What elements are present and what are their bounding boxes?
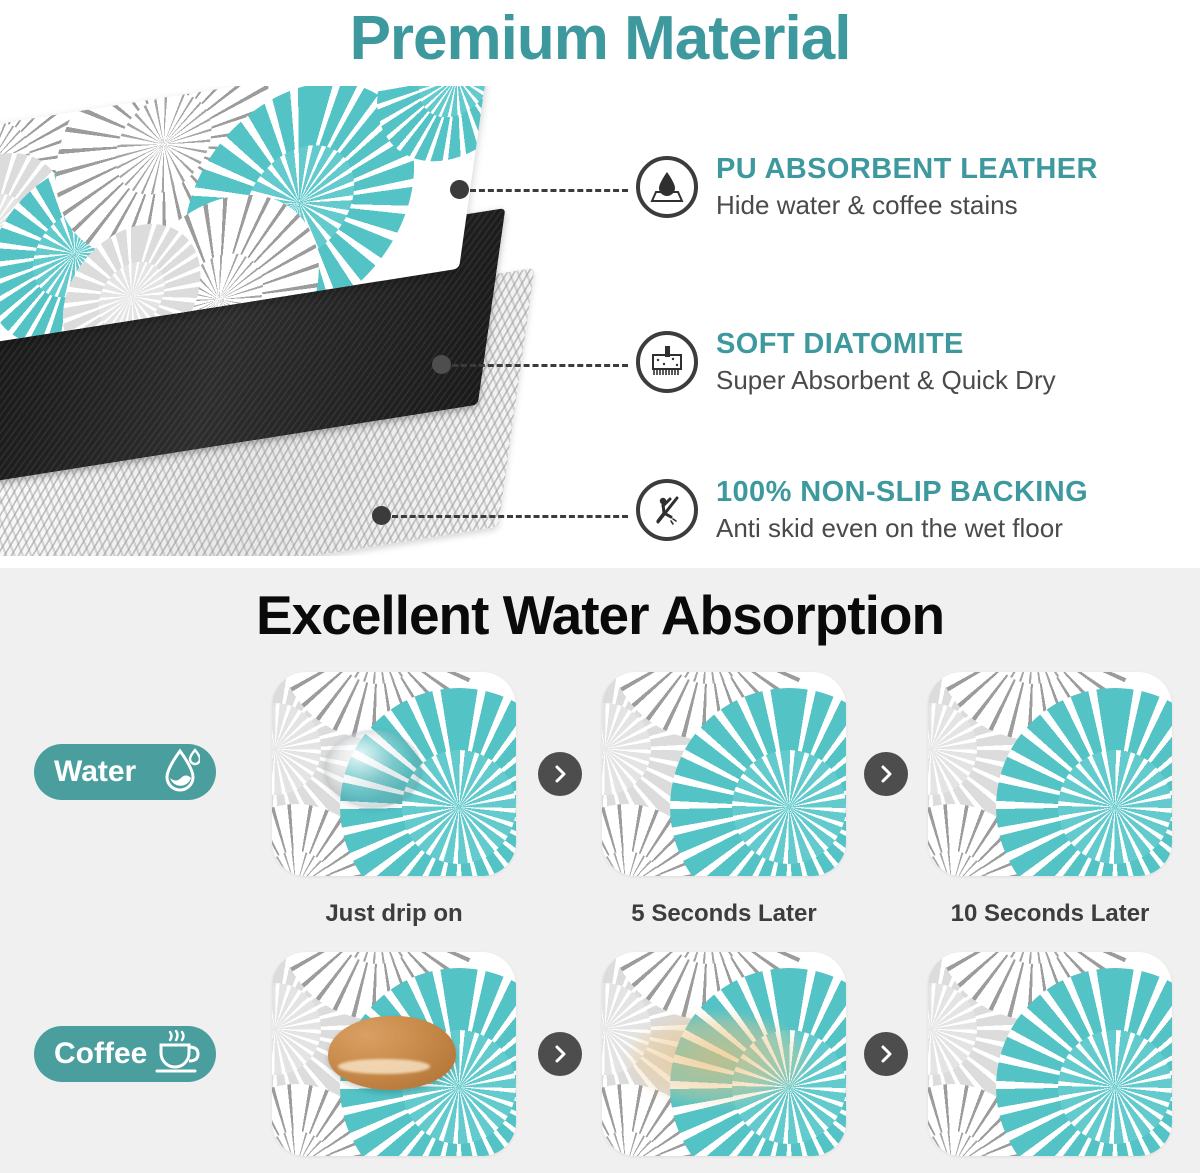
feature-title: PU ABSORBENT LEATHER [716,152,1098,186]
tile-water-step-1 [272,672,516,876]
water-absorption-heading: Excellent Water Absorption [0,584,1200,646]
no-slip-person-icon [636,479,698,541]
badge-coffee: Coffee [34,1026,216,1082]
leader-dot-non-slip [372,506,391,525]
feature-subtitle: Anti skid even on the wet floor [716,511,1088,545]
feature-subtitle: Hide water & coffee stains [716,188,1098,222]
chevron-right-icon [538,1032,582,1076]
floral-pattern [602,672,846,876]
feature-soft-diatomite: SOFT DIATOMITE Super Absorbent & Quick D… [636,327,1056,397]
water-drop-on-mat-icon [636,156,698,218]
feature-title: SOFT DIATOMITE [716,327,1056,361]
water-droplet-blob [324,730,422,808]
chevron-right-icon [864,1032,908,1076]
tile-water-step-3 [928,672,1172,876]
caption-step-1: Just drip on [272,899,516,929]
tile-coffee-step-3 [928,952,1172,1156]
tile-coffee-step-2 [602,952,846,1156]
tile-coffee-step-1 [272,952,516,1156]
caption-step-2: 5 Seconds Later [602,899,846,929]
coffee-stain-faded [628,1014,808,1106]
badge-water: Water [34,744,216,800]
floral-pattern [928,672,1172,876]
leader-line-diatomite [452,364,628,367]
chevron-right-icon [864,752,908,796]
caption-step-3: 10 Seconds Later [928,899,1172,929]
coffee-cup-icon [150,1030,200,1078]
tile-water-step-2 [602,672,846,876]
leader-dot-pu-leather [450,180,469,199]
coffee-spill-blob [328,1016,456,1090]
feature-non-slip-backing: 100% NON-SLIP BACKING Anti skid even on … [636,475,1088,545]
feature-title: 100% NON-SLIP BACKING [716,475,1088,509]
leader-line-pu-leather [470,189,628,192]
leader-dot-diatomite [432,355,451,374]
premium-material-heading: Premium Material [0,2,1200,76]
water-drop-icon [156,748,200,796]
feature-pu-absorbent-leather: PU ABSORBENT LEATHER Hide water & coffee… [636,152,1098,222]
premium-material-section: Premium Material PU ABSORBEN [0,0,1200,568]
badge-label: Water [54,755,136,789]
floral-pattern [928,952,1172,1156]
leader-line-non-slip [392,515,628,518]
feature-subtitle: Super Absorbent & Quick Dry [716,363,1056,397]
layered-mat-product-photo [0,86,550,556]
diatomite-brush-icon [636,331,698,393]
chevron-right-icon [538,752,582,796]
badge-label: Coffee [54,1037,147,1071]
